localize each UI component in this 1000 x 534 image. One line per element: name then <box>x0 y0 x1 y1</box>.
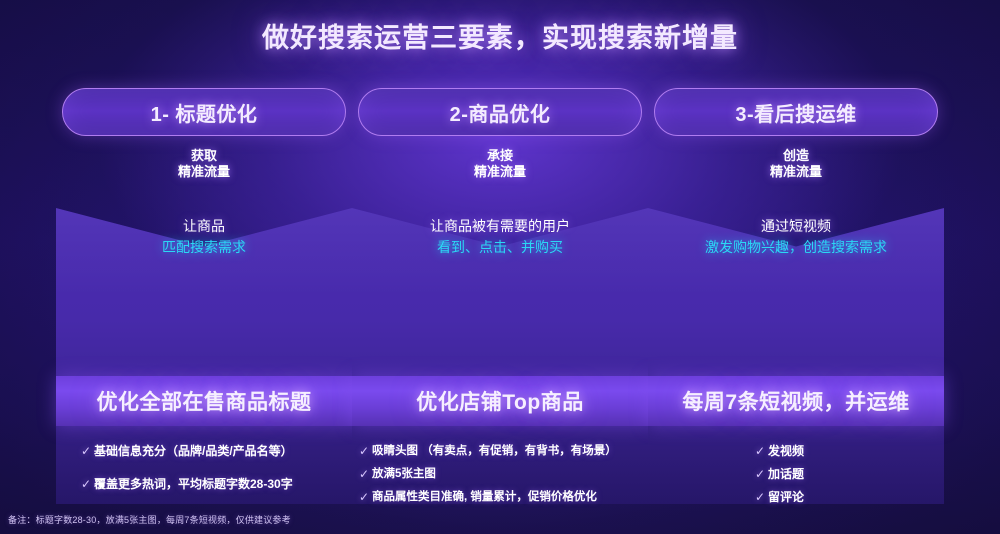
list-item: ✓ 商品属性类目准确, 销量累计，促销价格优化 <box>356 489 678 505</box>
check-icon: ✓ <box>752 443 768 459</box>
column-2-lead-white: 让商品被有需要的用户 <box>352 216 648 237</box>
check-icon: ✓ <box>752 466 768 482</box>
list-item: ✓ 发视频 <box>752 443 944 459</box>
column-1-subtitle-line1: 获取 <box>56 148 352 164</box>
list-item: ✓ 留评论 <box>752 489 944 505</box>
check-icon: ✓ <box>356 443 372 459</box>
column-3-highlight-band: 每周7条短视频，并运维 <box>648 376 944 426</box>
list-item: ✓ 覆盖更多热词，平均标题字数28-30字 <box>78 476 352 492</box>
column-1-lead-white: 让商品 <box>56 216 352 237</box>
column-3-subtitle: 创造 精准流量 <box>648 148 944 180</box>
funnel-column-3: 3-看后搜运维 创造 精准流量 通过短视频 激发购物兴趣，创造搜索需求 每周7条… <box>648 88 944 504</box>
list-item-label: 加话题 <box>768 466 804 482</box>
funnel-column-1: 1- 标题优化 获取 精准流量 让商品 匹配搜索需求 优化全部在售商品标题 ✓ … <box>56 88 352 504</box>
column-2-band-label: 优化店铺Top商品 <box>416 386 583 416</box>
column-2-subtitle-line2: 精准流量 <box>352 164 648 180</box>
page-title: 做好搜索运营三要素，实现搜索新增量 <box>0 16 1000 55</box>
check-icon: ✓ <box>356 466 372 482</box>
column-2-subtitle: 承接 精准流量 <box>352 148 648 180</box>
list-item-label: 放满5张主图 <box>372 466 436 482</box>
column-3-lead-text: 通过短视频 激发购物兴趣，创造搜索需求 <box>648 216 944 258</box>
column-3-band-label: 每周7条短视频，并运维 <box>682 386 909 416</box>
column-2-subtitle-line1: 承接 <box>352 148 648 164</box>
column-1-header-label: 1- 标题优化 <box>151 98 258 127</box>
column-2-highlight-band: 优化店铺Top商品 <box>352 376 648 426</box>
list-item: ✓ 加话题 <box>752 466 944 482</box>
list-item-label: 留评论 <box>768 489 804 505</box>
column-3-subtitle-line2: 精准流量 <box>648 164 944 180</box>
column-1-highlight-band: 优化全部在售商品标题 <box>56 376 352 426</box>
column-3-subtitle-line1: 创造 <box>648 148 944 164</box>
footnote: 备注：标题字数28-30，放满5张主图，每周7条短视频，仅供建议参考 <box>8 513 291 526</box>
column-3-header-label: 3-看后搜运维 <box>735 98 856 127</box>
list-item-label: 发视频 <box>768 443 804 459</box>
column-3-lead-cyan: 激发购物兴趣，创造搜索需求 <box>648 237 944 258</box>
column-1-subtitle: 获取 精准流量 <box>56 148 352 180</box>
column-2-checklist: ✓ 吸睛头图 （有卖点，有促销，有背书，有场景） ✓ 放满5张主图 ✓ 商品属性… <box>348 443 678 512</box>
column-2-header-label: 2-商品优化 <box>450 98 551 127</box>
column-1-subtitle-line2: 精准流量 <box>56 164 352 180</box>
list-item: ✓ 放满5张主图 <box>356 466 678 482</box>
column-1-checklist: ✓ 基础信息充分（品牌/品类/产品名等） ✓ 覆盖更多热词，平均标题字数28-3… <box>56 443 352 509</box>
list-item-label: 覆盖更多热词，平均标题字数28-30字 <box>94 476 293 492</box>
column-2-lead-text: 让商品被有需要的用户 看到、点击、并购买 <box>352 216 648 258</box>
column-1-lead-cyan: 匹配搜索需求 <box>56 237 352 258</box>
column-1-band-label: 优化全部在售商品标题 <box>97 386 312 416</box>
list-item-label: 吸睛头图 （有卖点，有促销，有背书，有场景） <box>372 443 617 459</box>
column-1-lead-text: 让商品 匹配搜索需求 <box>56 216 352 258</box>
column-3-header-pill[interactable]: 3-看后搜运维 <box>654 88 938 136</box>
list-item-label: 基础信息充分（品牌/品类/产品名等） <box>94 443 293 459</box>
column-2-lead-cyan: 看到、点击、并购买 <box>352 237 648 258</box>
column-1-header-pill[interactable]: 1- 标题优化 <box>62 88 346 136</box>
funnel-column-2: 2-商品优化 承接 精准流量 让商品被有需要的用户 看到、点击、并购买 优化店铺… <box>352 88 648 504</box>
list-item: ✓ 吸睛头图 （有卖点，有促销，有背书，有场景） <box>356 443 678 459</box>
column-2-header-pill[interactable]: 2-商品优化 <box>358 88 642 136</box>
check-icon: ✓ <box>78 443 94 459</box>
check-icon: ✓ <box>752 489 768 505</box>
list-item: ✓ 基础信息充分（品牌/品类/产品名等） <box>78 443 352 459</box>
column-3-checklist: ✓ 发视频 ✓ 加话题 ✓ 留评论 <box>648 443 944 512</box>
list-item-label: 商品属性类目准确, 销量累计，促销价格优化 <box>372 489 597 505</box>
column-3-lead-white: 通过短视频 <box>648 216 944 237</box>
check-icon: ✓ <box>78 476 94 492</box>
check-icon: ✓ <box>356 489 372 505</box>
